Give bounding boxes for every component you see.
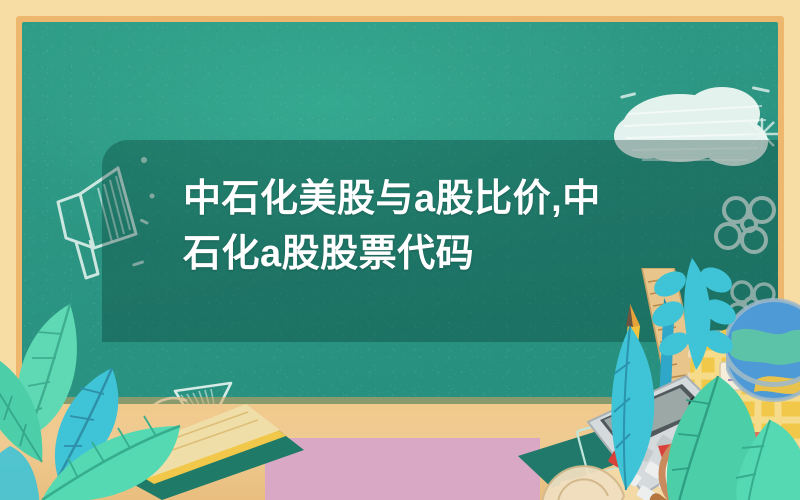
title-card: 中石化美股与a股比价,中 石化a股股票代码 [0, 0, 800, 500]
page-title: 中石化美股与a股比价,中 石化a股股票代码 [183, 172, 703, 282]
leaf-cluster-left [0, 296, 280, 500]
leaf-cluster-right [600, 250, 800, 500]
title-line-2: 石化a股股票代码 [183, 227, 703, 282]
title-line-1: 中石化美股与a股比价,中 [183, 172, 703, 227]
